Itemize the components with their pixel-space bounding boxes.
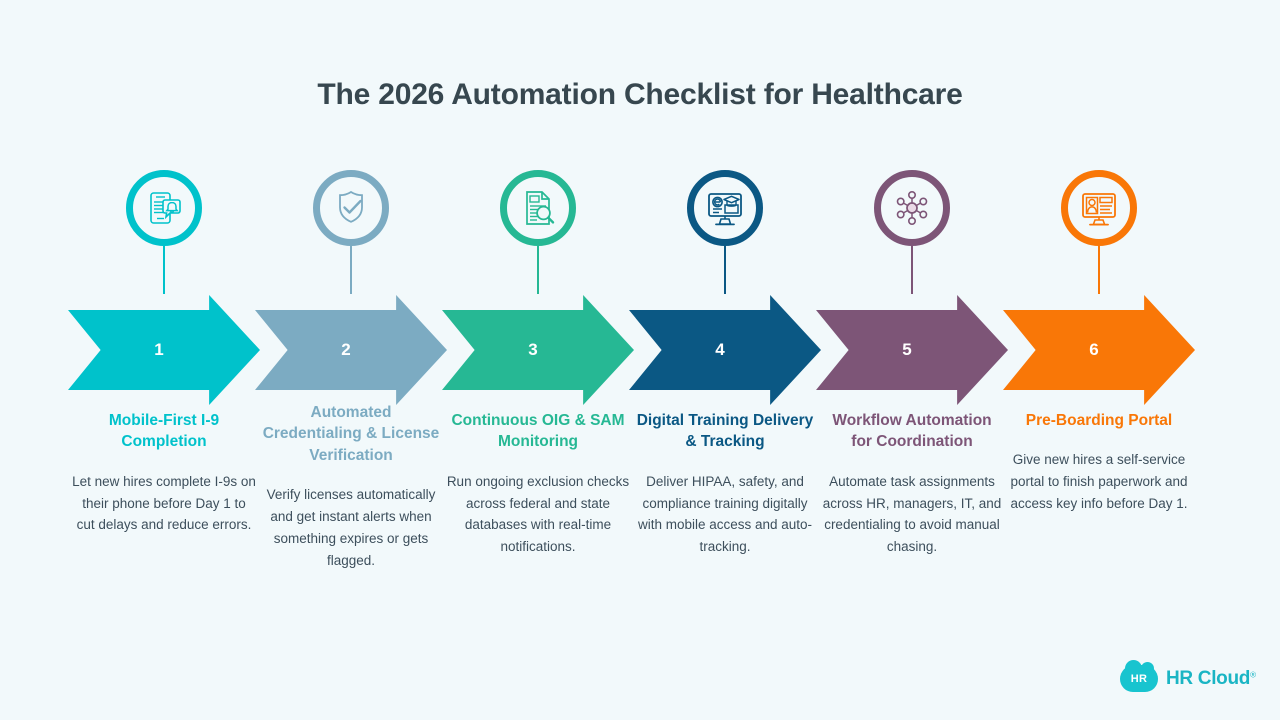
step-5-chevron-row: 5 (818, 295, 1006, 405)
step-4-chevron-row: 4 (631, 295, 819, 405)
step-5-text: Workflow Automation for Coordination Aut… (818, 410, 1006, 558)
step-4-icon-wrap (631, 170, 819, 295)
hr-cloud-mark-icon: HR (1120, 665, 1158, 692)
step-4-stem (724, 246, 726, 294)
user-profile-monitor-icon (1061, 170, 1137, 246)
step-3-icon-wrap (444, 170, 632, 295)
step-3-number: 3 (444, 295, 632, 405)
page-title: The 2026 Automation Checklist for Health… (0, 78, 1280, 112)
step-5-number: 5 (818, 295, 1006, 405)
step-3-stem (537, 246, 539, 294)
step-1-stem (163, 246, 165, 294)
step-1: 1 Mobile-First I-9 Completion Let new hi… (70, 170, 258, 670)
step-2-text: Automated Credentialing & License Verifi… (257, 402, 445, 572)
step-6-number: 6 (1005, 295, 1193, 405)
step-6-chevron-row: 6 (1005, 295, 1193, 405)
steps-container: 1 Mobile-First I-9 Completion Let new hi… (0, 170, 1280, 670)
step-1-description: Let new hires complete I-9s on their pho… (70, 471, 258, 537)
step-3-description: Run ongoing exclusion checks across fede… (444, 471, 632, 558)
step-6-title: Pre-Boarding Portal (1005, 410, 1193, 431)
step-2-title: Automated Credentialing & License Verifi… (257, 402, 445, 466)
step-6: 6 Pre-Boarding Portal Give new hires a s… (1005, 170, 1193, 670)
step-2-number: 2 (257, 295, 445, 405)
shield-check-icon (313, 170, 389, 246)
step-6-icon-wrap (1005, 170, 1193, 295)
step-6-description: Give new hires a self-service portal to … (1005, 449, 1193, 515)
step-2: 2 Automated Credentialing & License Veri… (257, 170, 445, 670)
hr-cloud-wordmark: HR Cloud® (1166, 668, 1256, 690)
step-4-title: Digital Training Delivery & Tracking (631, 410, 819, 453)
step-5-stem (911, 246, 913, 294)
network-hub-icon (874, 170, 950, 246)
step-5-title: Workflow Automation for Coordination (818, 410, 1006, 453)
step-5-icon-wrap (818, 170, 1006, 295)
step-1-title: Mobile-First I-9 Completion (70, 410, 258, 453)
step-1-icon-wrap (70, 170, 258, 295)
hr-cloud-mark-text: HR (1131, 673, 1147, 685)
document-search-icon (500, 170, 576, 246)
step-4-description: Deliver HIPAA, safety, and compliance tr… (631, 471, 819, 558)
step-2-stem (350, 246, 352, 294)
step-1-text: Mobile-First I-9 Completion Let new hire… (70, 410, 258, 536)
step-4: 4 Digital Training Delivery & Tracking D… (631, 170, 819, 670)
mobile-notification-icon (126, 170, 202, 246)
elearning-monitor-icon (687, 170, 763, 246)
step-1-number: 1 (70, 295, 258, 405)
step-6-text: Pre-Boarding Portal Give new hires a sel… (1005, 410, 1193, 515)
step-2-chevron-row: 2 (257, 295, 445, 405)
hr-cloud-logo: HR HR Cloud® (1120, 665, 1256, 692)
step-4-text: Digital Training Delivery & Tracking Del… (631, 410, 819, 558)
step-1-chevron-row: 1 (70, 295, 258, 405)
step-6-stem (1098, 246, 1100, 294)
step-3: 3 Continuous OIG & SAM Monitoring Run on… (444, 170, 632, 670)
step-5: 5 Workflow Automation for Coordination A… (818, 170, 1006, 670)
step-4-number: 4 (631, 295, 819, 405)
step-3-text: Continuous OIG & SAM Monitoring Run ongo… (444, 410, 632, 558)
hr-cloud-trademark: ® (1250, 670, 1256, 679)
step-2-description: Verify licenses automatically and get in… (257, 484, 445, 571)
step-3-chevron-row: 3 (444, 295, 632, 405)
step-3-title: Continuous OIG & SAM Monitoring (444, 410, 632, 453)
hr-cloud-name: HR Cloud (1166, 668, 1250, 689)
step-5-description: Automate task assignments across HR, man… (818, 471, 1006, 558)
step-2-icon-wrap (257, 170, 445, 295)
